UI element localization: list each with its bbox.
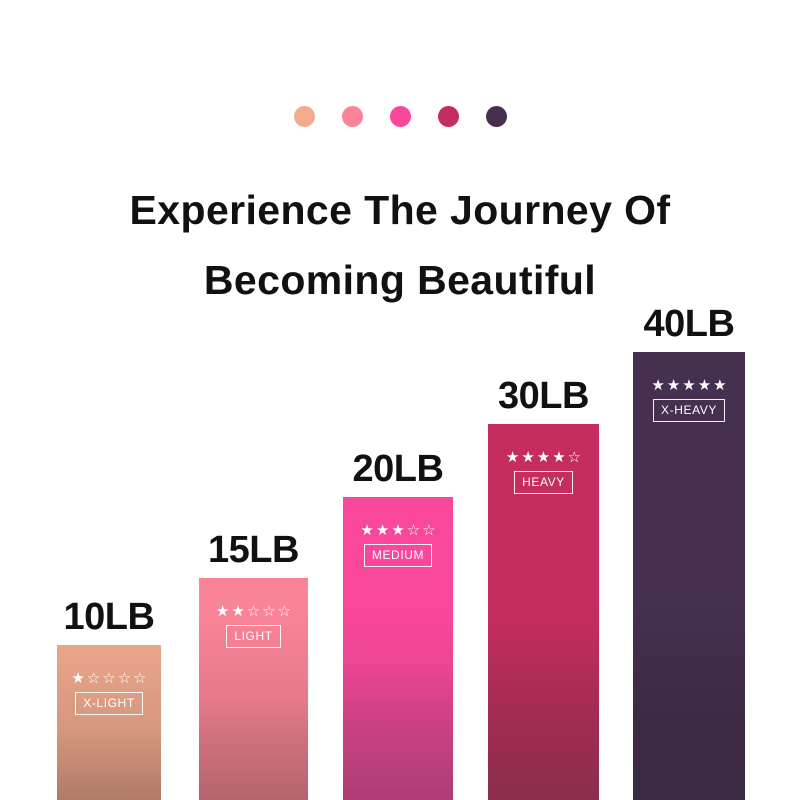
star-filled-icon: ★ xyxy=(552,449,565,465)
star-filled-icon: ★ xyxy=(376,522,389,538)
star-empty-icon: ☆ xyxy=(118,670,131,686)
bar-group-heavy: 30LB★★★★☆HEAVY xyxy=(488,424,599,800)
star-filled-icon: ★ xyxy=(506,449,519,465)
star-rating: ★★★★☆ xyxy=(506,449,581,465)
star-empty-icon: ☆ xyxy=(278,603,291,619)
bar-bottom-shading xyxy=(488,610,599,800)
bar-value-label: 20LB xyxy=(343,450,453,488)
star-empty-icon: ☆ xyxy=(87,670,100,686)
bar-badge: ★★★★☆HEAVY xyxy=(488,449,599,494)
bar-level-label: LIGHT xyxy=(226,625,280,648)
star-empty-icon: ☆ xyxy=(247,603,260,619)
star-filled-icon: ★ xyxy=(391,522,404,538)
star-rating: ★☆☆☆☆ xyxy=(71,670,146,686)
star-rating: ★★★★★ xyxy=(651,377,726,393)
bar-value-label: 30LB xyxy=(488,377,599,415)
bar-value-label: 15LB xyxy=(199,531,308,569)
star-filled-icon: ★ xyxy=(521,449,534,465)
bar-level-label: X-LIGHT xyxy=(75,692,143,715)
star-filled-icon: ★ xyxy=(216,603,229,619)
star-rating: ★★☆☆☆ xyxy=(216,603,291,619)
star-empty-icon: ☆ xyxy=(407,522,420,538)
bar-group-light: 15LB★★☆☆☆LIGHT xyxy=(199,578,308,800)
star-rating: ★★★☆☆ xyxy=(360,522,435,538)
bar-group-medium: 20LB★★★☆☆MEDIUM xyxy=(343,497,453,800)
star-filled-icon: ★ xyxy=(231,603,244,619)
star-empty-icon: ☆ xyxy=(262,603,275,619)
star-filled-icon: ★ xyxy=(71,670,84,686)
bar-badge: ★★☆☆☆LIGHT xyxy=(199,603,308,648)
star-empty-icon: ☆ xyxy=(102,670,115,686)
bar-value-label: 10LB xyxy=(57,598,161,636)
star-filled-icon: ★ xyxy=(360,522,373,538)
bar-group-x-heavy: 40LB★★★★★X-HEAVY xyxy=(633,352,745,800)
star-empty-icon: ☆ xyxy=(568,449,581,465)
star-filled-icon: ★ xyxy=(713,377,726,393)
star-empty-icon: ☆ xyxy=(422,522,435,538)
bar-badge: ★★★★★X-HEAVY xyxy=(633,377,745,422)
bar-bottom-shading xyxy=(343,610,453,800)
bar-group-x-light: 10LB★☆☆☆☆X-LIGHT xyxy=(57,645,161,800)
bar-badge: ★☆☆☆☆X-LIGHT xyxy=(57,670,161,715)
bar-level-label: HEAVY xyxy=(514,471,573,494)
star-empty-icon: ☆ xyxy=(133,670,146,686)
star-filled-icon: ★ xyxy=(698,377,711,393)
bar-bottom-shading xyxy=(633,610,745,800)
star-filled-icon: ★ xyxy=(537,449,550,465)
star-filled-icon: ★ xyxy=(682,377,695,393)
star-filled-icon: ★ xyxy=(667,377,680,393)
star-filled-icon: ★ xyxy=(651,377,664,393)
resistance-band-infographic: Experience The Journey Of Becoming Beaut… xyxy=(0,0,800,800)
bar-level-label: MEDIUM xyxy=(364,544,432,567)
bar-level-label: X-HEAVY xyxy=(653,399,725,422)
bar-badge: ★★★☆☆MEDIUM xyxy=(343,522,453,567)
bar-chart: 10LB★☆☆☆☆X-LIGHT15LB★★☆☆☆LIGHT20LB★★★☆☆M… xyxy=(0,0,800,800)
bar-value-label: 40LB xyxy=(633,305,745,343)
